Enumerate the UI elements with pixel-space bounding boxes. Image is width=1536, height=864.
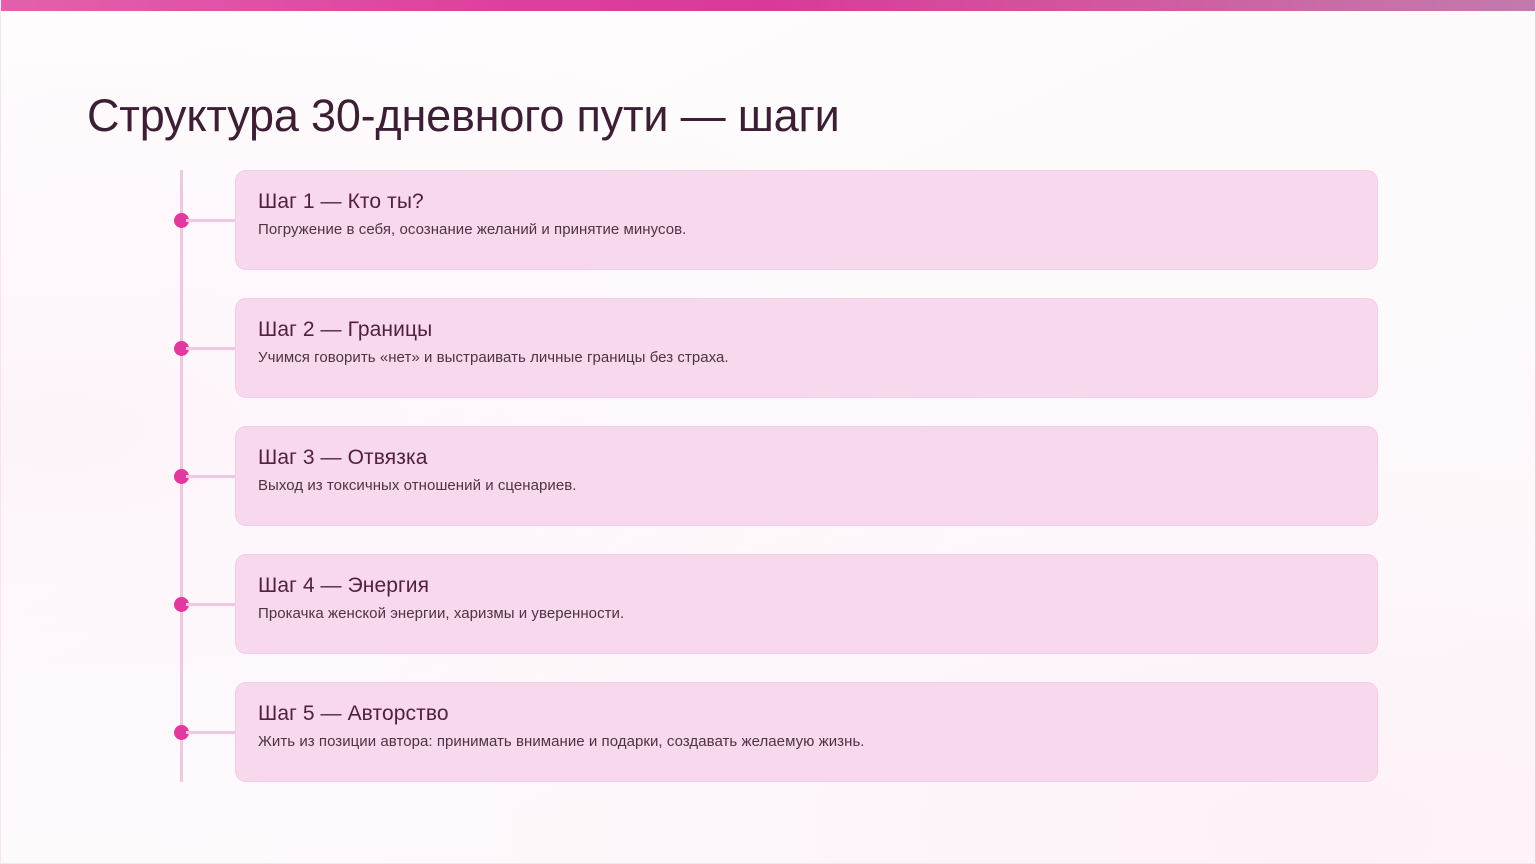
timeline-connector-line <box>186 603 236 606</box>
timeline-step-3[interactable]: Шаг 3 — Отвязка Выход из токсичных отнош… <box>172 426 1378 526</box>
timeline-connector-line <box>186 219 236 222</box>
timeline-step-list: Шаг 1 — Кто ты? Погружение в себя, осозн… <box>172 170 1378 782</box>
step-card[interactable]: Шаг 5 — Авторство Жить из позиции автора… <box>235 682 1378 782</box>
slide-canvas: Структура 30-дневного пути — шаги Шаг 1 … <box>0 0 1536 864</box>
step-description: Учимся говорить «нет» и выстраивать личн… <box>258 347 1355 369</box>
timeline-connector-line <box>186 475 236 478</box>
top-accent-bar <box>1 0 1535 11</box>
timeline-step-1[interactable]: Шаг 1 — Кто ты? Погружение в себя, осозн… <box>172 170 1378 270</box>
step-description: Прокачка женской энергии, харизмы и увер… <box>258 603 1355 625</box>
step-title: Шаг 2 — Границы <box>258 316 1355 343</box>
step-description: Выход из токсичных отношений и сценариев… <box>258 475 1355 497</box>
page-title: Структура 30-дневного пути — шаги <box>87 86 840 146</box>
timeline-connector-line <box>186 731 236 734</box>
step-card[interactable]: Шаг 1 — Кто ты? Погружение в себя, осозн… <box>235 170 1378 270</box>
step-card[interactable]: Шаг 4 — Энергия Прокачка женской энергии… <box>235 554 1378 654</box>
step-card[interactable]: Шаг 3 — Отвязка Выход из токсичных отнош… <box>235 426 1378 526</box>
step-title: Шаг 5 — Авторство <box>258 700 1355 727</box>
timeline: Шаг 1 — Кто ты? Погружение в себя, осозн… <box>172 170 1378 785</box>
step-description: Погружение в себя, осознание желаний и п… <box>258 219 1355 241</box>
timeline-step-5[interactable]: Шаг 5 — Авторство Жить из позиции автора… <box>172 682 1378 782</box>
step-card[interactable]: Шаг 2 — Границы Учимся говорить «нет» и … <box>235 298 1378 398</box>
timeline-connector-line <box>186 347 236 350</box>
step-title: Шаг 1 — Кто ты? <box>258 188 1355 215</box>
step-title: Шаг 4 — Энергия <box>258 572 1355 599</box>
timeline-step-4[interactable]: Шаг 4 — Энергия Прокачка женской энергии… <box>172 554 1378 654</box>
step-description: Жить из позиции автора: принимать вниман… <box>258 731 1355 753</box>
timeline-step-2[interactable]: Шаг 2 — Границы Учимся говорить «нет» и … <box>172 298 1378 398</box>
step-title: Шаг 3 — Отвязка <box>258 444 1355 471</box>
